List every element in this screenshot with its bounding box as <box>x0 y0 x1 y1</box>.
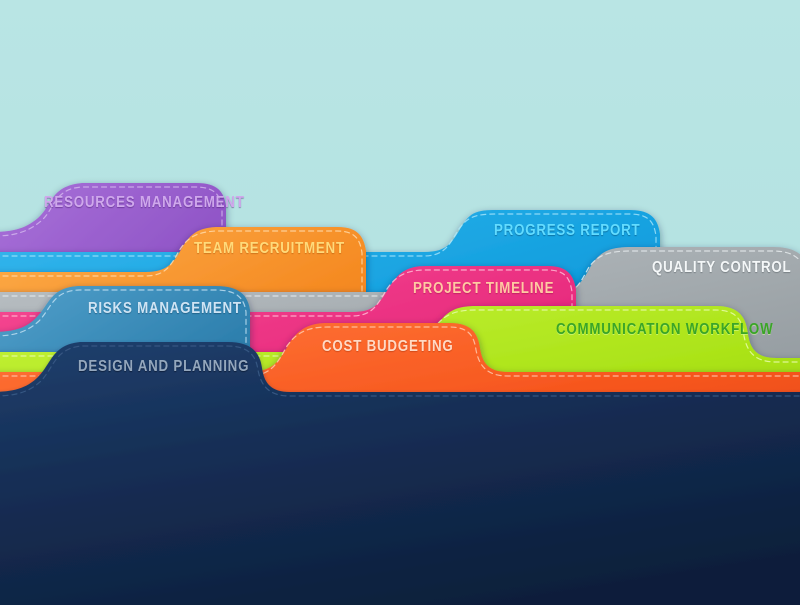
ribbon-label-progress-report[interactable]: PROGRESS REPORT <box>494 223 640 239</box>
ribbon-label-communication-workflow[interactable]: COMMUNICATION WORKFLOW <box>556 322 773 338</box>
ribbon-label-resources-management[interactable]: RESOURCES MANAGEMENT <box>44 195 245 211</box>
infographic-canvas: RESOURCES MANAGEMENT PROGRESS REPORT TEA… <box>0 0 800 605</box>
ribbon-label-risks-management[interactable]: RISKS MANAGEMENT <box>88 301 242 317</box>
ribbon-label-project-timeline[interactable]: PROJECT TIMELINE <box>413 281 554 297</box>
ribbon-label-team-recruitment[interactable]: TEAM RECRUITMENT <box>194 241 345 257</box>
ribbon-label-cost-budgeting[interactable]: COST BUDGETING <box>322 339 454 355</box>
ribbon-label-design-and-planning[interactable]: DESIGN AND PLANNING <box>78 359 249 375</box>
ribbon-label-quality-control[interactable]: QUALITY CONTROL <box>652 260 791 276</box>
